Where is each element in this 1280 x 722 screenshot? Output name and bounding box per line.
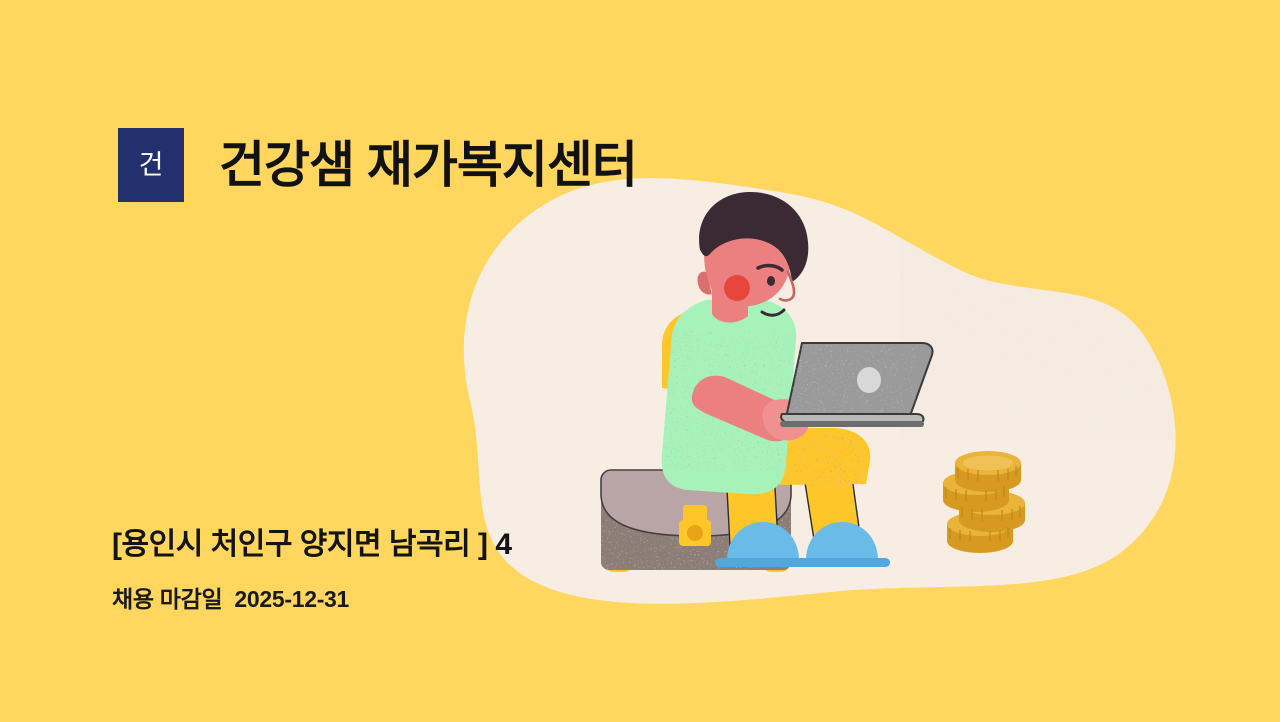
job-posting-poster: 건 건강샘 재가복지센터 [용인시 처인구 양지면 남곡리 ] 4 채용 마감일… bbox=[0, 0, 1280, 722]
deadline-label: 채용 마감일 bbox=[112, 586, 222, 612]
poster-header: 건 건강샘 재가복지센터 bbox=[118, 128, 637, 202]
deadline-date: 2025-12-31 bbox=[234, 586, 349, 612]
application-deadline: 채용 마감일2025-12-31 bbox=[112, 580, 349, 614]
company-logo-badge: 건 bbox=[118, 128, 184, 202]
job-location-text: [용인시 처인구 양지면 남곡리 ] 4 bbox=[112, 519, 512, 563]
company-name-title: 건강샘 재가복지센터 bbox=[219, 140, 637, 190]
